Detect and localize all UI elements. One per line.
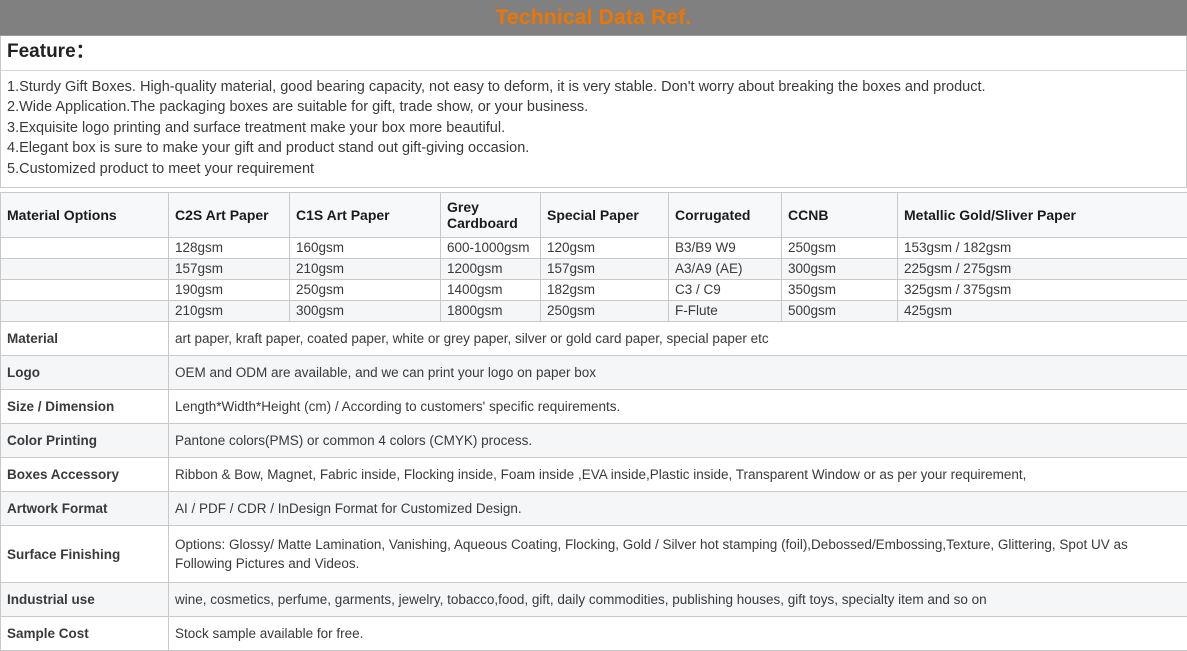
cell-grey-cardboard: 600-1000gsm <box>441 238 541 259</box>
spec-row-artwork-format: Artwork Format AI / PDF / CDR / InDesign… <box>1 492 1187 526</box>
spec-value: OEM and ODM are available, and we can pr… <box>169 356 1187 390</box>
feature-item: 1.Sturdy Gift Boxes. High-quality materi… <box>7 77 1180 98</box>
feature-item: 2.Wide Application.The packaging boxes a… <box>7 97 1180 118</box>
cell-corrugated: F-Flute <box>669 301 782 322</box>
cell-material-options <box>1 238 169 259</box>
table-row: 210gsm 300gsm 1800gsm 250gsm F-Flute 500… <box>1 301 1187 322</box>
technical-data-table: Material Options C2S Art Paper C1S Art P… <box>0 192 1187 651</box>
column-header-ccnb: CCNB <box>782 193 898 238</box>
cell-c2s: 210gsm <box>169 301 290 322</box>
spec-row-logo: Logo OEM and ODM are available, and we c… <box>1 356 1187 390</box>
spec-label: Boxes Accessory <box>1 458 169 492</box>
cell-metallic: 325gsm / 375gsm <box>898 280 1187 301</box>
spec-row-surface-finishing: Surface Finishing Options: Glossy/ Matte… <box>1 526 1187 583</box>
spec-label: Color Printing <box>1 424 169 458</box>
feature-item: 4.Elegant box is sure to make your gift … <box>7 138 1180 159</box>
cell-special-paper: 157gsm <box>541 259 669 280</box>
spec-row-color-printing: Color Printing Pantone colors(PMS) or co… <box>1 424 1187 458</box>
column-header-metallic-paper: Metallic Gold/Sliver Paper <box>898 193 1187 238</box>
column-header-c1s-art-paper: C1S Art Paper <box>290 193 441 238</box>
spec-value: Options: Glossy/ Matte Lamination, Vanis… <box>169 526 1187 583</box>
spec-label: Artwork Format <box>1 492 169 526</box>
cell-c2s: 190gsm <box>169 280 290 301</box>
cell-corrugated: A3/A9 (AE) <box>669 259 782 280</box>
column-header-grey-cardboard: Grey Cardboard <box>441 193 541 238</box>
spec-row-boxes-accessory: Boxes Accessory Ribbon & Bow, Magnet, Fa… <box>1 458 1187 492</box>
cell-corrugated: C3 / C9 <box>669 280 782 301</box>
page-title-bar: Technical Data Ref. <box>0 0 1187 36</box>
cell-ccnb: 250gsm <box>782 238 898 259</box>
spec-value: Pantone colors(PMS) or common 4 colors (… <box>169 424 1187 458</box>
cell-metallic: 225gsm / 275gsm <box>898 259 1187 280</box>
spec-row-size-dimension: Size / Dimension Length*Width*Height (cm… <box>1 390 1187 424</box>
cell-metallic: 153gsm / 182gsm <box>898 238 1187 259</box>
cell-special-paper: 250gsm <box>541 301 669 322</box>
cell-c1s: 250gsm <box>290 280 441 301</box>
cell-ccnb: 500gsm <box>782 301 898 322</box>
table-row: 157gsm 210gsm 1200gsm 157gsm A3/A9 (AE) … <box>1 259 1187 280</box>
table-row: 190gsm 250gsm 1400gsm 182gsm C3 / C9 350… <box>1 280 1187 301</box>
table-header-row: Material Options C2S Art Paper C1S Art P… <box>1 193 1187 238</box>
cell-material-options <box>1 301 169 322</box>
cell-c2s: 157gsm <box>169 259 290 280</box>
cell-material-options <box>1 259 169 280</box>
spec-label: Size / Dimension <box>1 390 169 424</box>
spec-value: Ribbon & Bow, Magnet, Fabric inside, Flo… <box>169 458 1187 492</box>
spec-row-sample-cost: Sample Cost Stock sample available for f… <box>1 617 1187 651</box>
spec-value: Length*Width*Height (cm) / According to … <box>169 390 1187 424</box>
spec-value: wine, cosmetics, perfume, garments, jewe… <box>169 583 1187 617</box>
feature-list: 1.Sturdy Gift Boxes. High-quality materi… <box>1 71 1186 188</box>
spec-row-industrial-use: Industrial use wine, cosmetics, perfume,… <box>1 583 1187 617</box>
column-header-material-options: Material Options <box>1 193 169 238</box>
feature-item: 5.Customized product to meet your requir… <box>7 159 1180 180</box>
spec-label: Logo <box>1 356 169 390</box>
feature-section: Feature： 1.Sturdy Gift Boxes. High-quali… <box>0 36 1187 188</box>
spec-label: Material <box>1 322 169 356</box>
column-header-corrugated: Corrugated <box>669 193 782 238</box>
feature-item: 3.Exquisite logo printing and surface tr… <box>7 118 1180 139</box>
column-header-special-paper: Special Paper <box>541 193 669 238</box>
spec-label: Industrial use <box>1 583 169 617</box>
cell-c1s: 210gsm <box>290 259 441 280</box>
cell-special-paper: 120gsm <box>541 238 669 259</box>
cell-c1s: 160gsm <box>290 238 441 259</box>
spec-row-material: Material art paper, kraft paper, coated … <box>1 322 1187 356</box>
cell-ccnb: 350gsm <box>782 280 898 301</box>
cell-c1s: 300gsm <box>290 301 441 322</box>
cell-ccnb: 300gsm <box>782 259 898 280</box>
cell-c2s: 128gsm <box>169 238 290 259</box>
spec-value: art paper, kraft paper, coated paper, wh… <box>169 322 1187 356</box>
cell-metallic: 425gsm <box>898 301 1187 322</box>
spec-label: Surface Finishing <box>1 526 169 583</box>
cell-material-options <box>1 280 169 301</box>
cell-special-paper: 182gsm <box>541 280 669 301</box>
spec-value: Stock sample available for free. <box>169 617 1187 651</box>
spec-value: AI / PDF / CDR / InDesign Format for Cus… <box>169 492 1187 526</box>
page-title: Technical Data Ref. <box>496 7 692 28</box>
feature-heading: Feature： <box>7 42 1180 63</box>
cell-grey-cardboard: 1200gsm <box>441 259 541 280</box>
table-row: 128gsm 160gsm 600-1000gsm 120gsm B3/B9 W… <box>1 238 1187 259</box>
cell-grey-cardboard: 1800gsm <box>441 301 541 322</box>
column-header-c2s-art-paper: C2S Art Paper <box>169 193 290 238</box>
feature-heading-row: Feature： <box>1 36 1186 71</box>
cell-grey-cardboard: 1400gsm <box>441 280 541 301</box>
cell-corrugated: B3/B9 W9 <box>669 238 782 259</box>
spec-label: Sample Cost <box>1 617 169 651</box>
